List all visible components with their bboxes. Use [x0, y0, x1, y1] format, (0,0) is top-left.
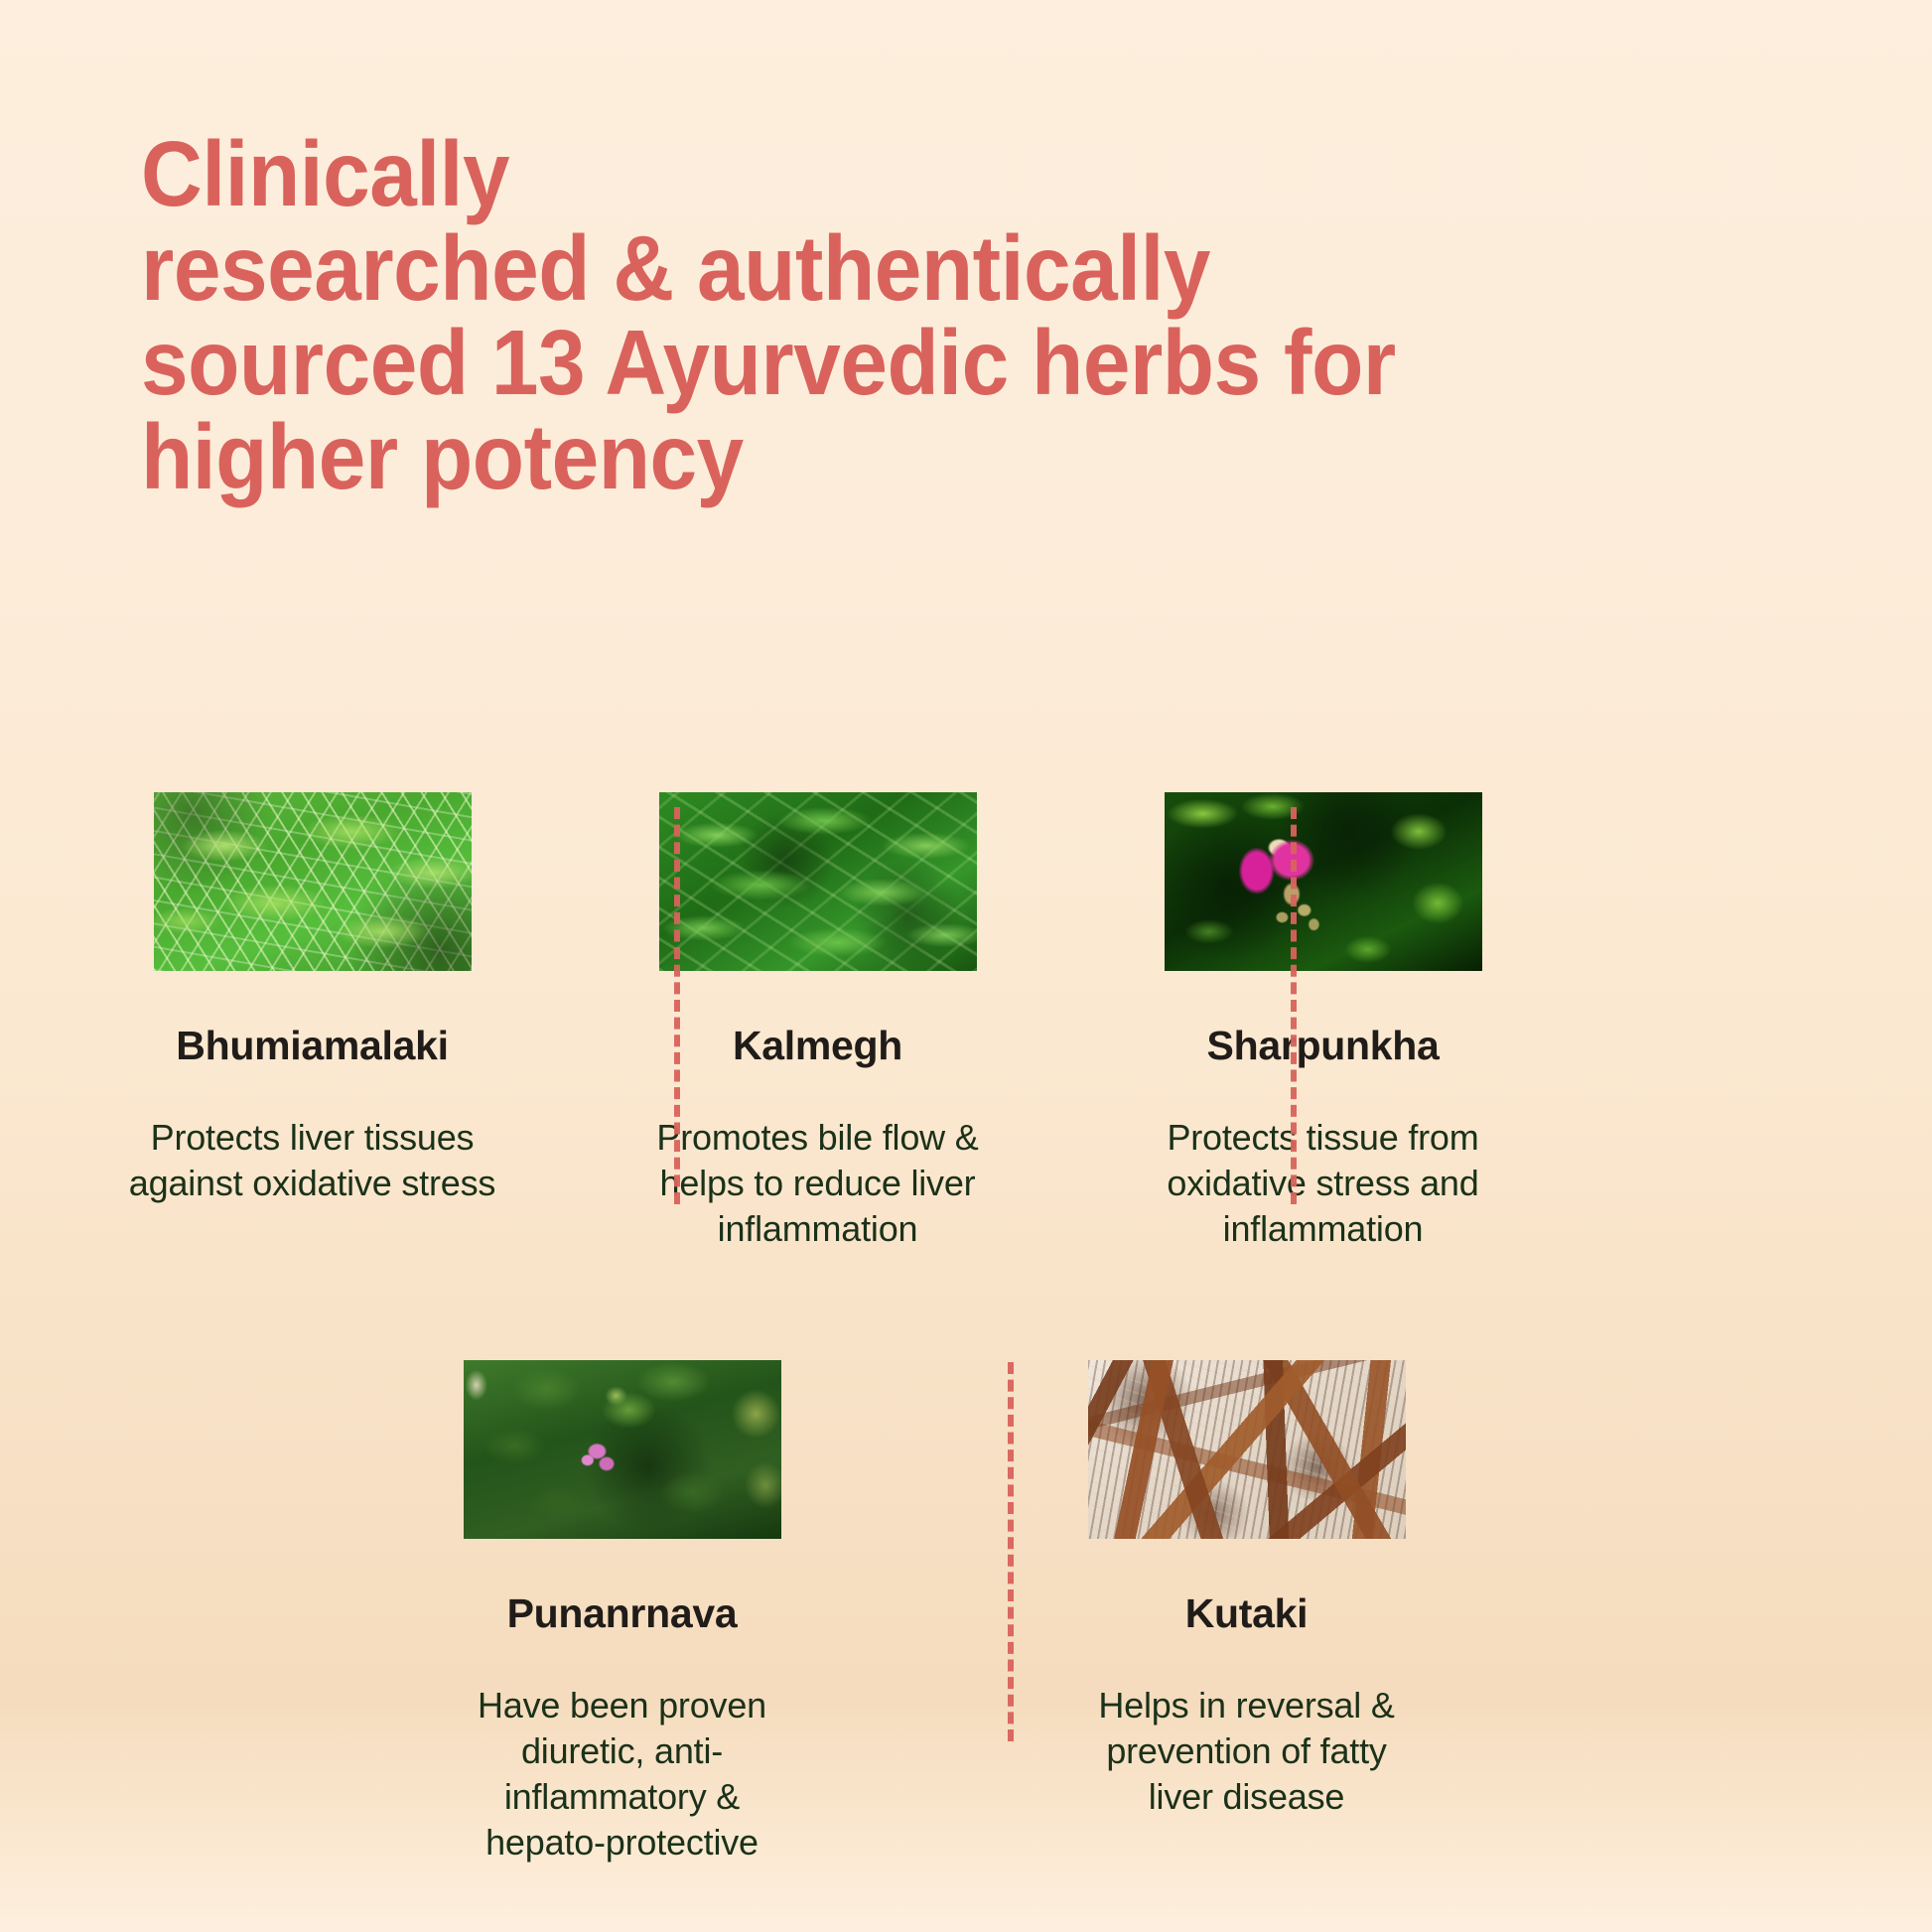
kalmegh-plant-photo [659, 792, 977, 971]
kutaki-root-photo [1088, 1360, 1406, 1539]
herb-row-top: Bhumiamalaki Protects liver tissues agai… [0, 792, 1932, 1252]
herb-card-sharpunkha: Sharpunkha Protects tissue from oxidativ… [1070, 792, 1576, 1252]
divider-vertical-dashed [1008, 1362, 1014, 1741]
divider-vertical-dashed [674, 807, 680, 1204]
herb-card-bhumiamalaki: Bhumiamalaki Protects liver tissues agai… [60, 792, 565, 1252]
herb-description: Helps in reversal & prevention of fatty … [1034, 1683, 1460, 1820]
sharpunkha-flower-photo [1165, 792, 1482, 971]
herb-description: Have been proven diuretic, anti- inflamm… [409, 1683, 836, 1865]
herb-name: Sharpunkha [1207, 1024, 1440, 1068]
herb-name: Kalmegh [733, 1024, 902, 1068]
herb-card-punanrnava: Punanrnava Have been proven diuretic, an… [369, 1360, 875, 1865]
punanrnava-plant-photo [464, 1360, 781, 1539]
herb-description: Protects tissue from oxidative stress an… [1110, 1115, 1537, 1252]
herb-name: Kutaki [1185, 1591, 1309, 1636]
herb-name: Bhumiamalaki [176, 1024, 448, 1068]
herb-card-kalmegh: Kalmegh Promotes bile flow & helps to re… [565, 792, 1070, 1252]
herb-description: Promotes bile flow & helps to reduce liv… [605, 1115, 1032, 1252]
herb-name: Punanrnava [507, 1591, 738, 1636]
herb-row-bottom: Punanrnava Have been proven diuretic, an… [0, 1360, 1932, 1865]
page-title: Clinically researched & authentically so… [141, 127, 1657, 503]
bhumiamalaki-plant-photo [154, 792, 472, 971]
herb-description: Protects liver tissues against oxidative… [99, 1115, 526, 1206]
divider-vertical-dashed [1291, 807, 1297, 1204]
herb-card-kutaki: Kutaki Helps in reversal & prevention of… [994, 1360, 1499, 1865]
